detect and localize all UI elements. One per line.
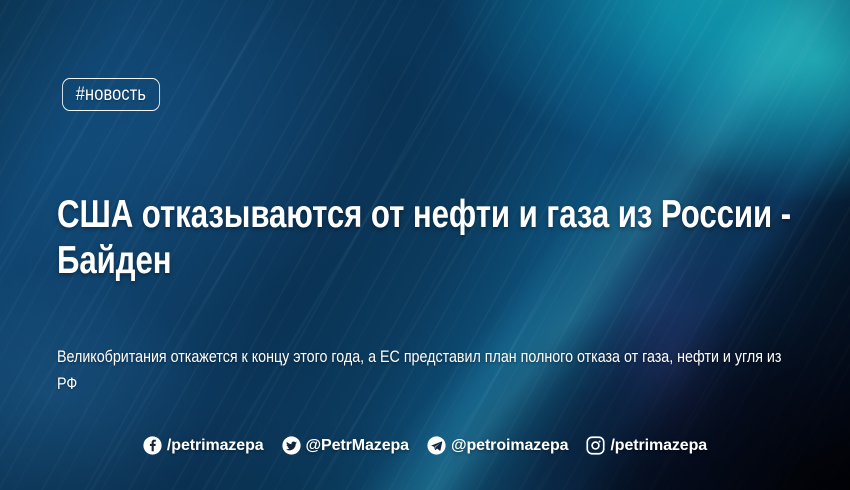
card-content: #новость США отказываются от нефти и газ… bbox=[0, 0, 850, 490]
social-link-facebook[interactable]: /petrimazepa bbox=[143, 436, 264, 455]
telegram-handle-wrap: @petroimazepa bbox=[451, 437, 568, 455]
page-subtitle: Великобритания откажется к концу этого г… bbox=[57, 343, 796, 397]
facebook-handle: /petrimazepa bbox=[167, 437, 264, 454]
social-footer: /petrimazepa @PetrMazepa bbox=[0, 436, 850, 455]
category-tag-label: #новость bbox=[76, 84, 146, 106]
social-link-telegram[interactable]: @petroimazepa bbox=[427, 436, 568, 455]
social-link-twitter[interactable]: @PetrMazepa bbox=[282, 436, 409, 455]
telegram-icon bbox=[427, 436, 446, 455]
instagram-icon bbox=[586, 436, 605, 455]
facebook-handle-wrap: /petrimazepa bbox=[167, 437, 264, 455]
telegram-handle: @petroimazepa bbox=[451, 437, 568, 454]
social-link-instagram[interactable]: /petrimazepa bbox=[586, 436, 707, 455]
twitter-handle-wrap: @PetrMazepa bbox=[306, 437, 409, 455]
twitter-handle: @PetrMazepa bbox=[306, 437, 409, 454]
facebook-icon bbox=[143, 436, 162, 455]
twitter-icon bbox=[282, 436, 301, 455]
category-tag[interactable]: #новость bbox=[62, 78, 160, 111]
news-card: #новость США отказываются от нефти и газ… bbox=[0, 0, 850, 490]
instagram-handle-wrap: /petrimazepa bbox=[610, 437, 707, 455]
instagram-handle: /petrimazepa bbox=[610, 437, 707, 454]
page-title: США отказываются от нефти и газа из Росс… bbox=[57, 192, 797, 284]
